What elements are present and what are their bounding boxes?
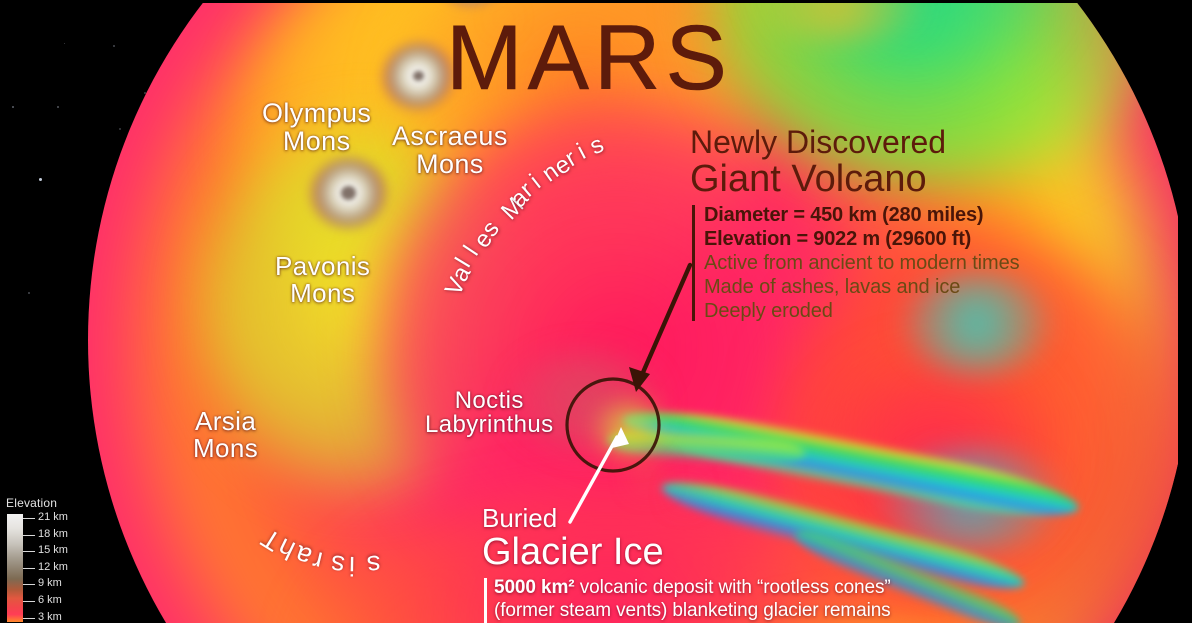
legend-body: 21 km18 km15 km12 km9 km6 km3 km xyxy=(2,514,94,623)
label-noctis-labyrinthus: Noctis Labyrinthus xyxy=(425,389,553,438)
volcano-fact-2: Made of ashes, lavas and ice xyxy=(704,275,1082,299)
label-line: Labyrinthus xyxy=(425,413,553,437)
star xyxy=(39,178,42,181)
legend-tick-mark xyxy=(23,535,35,536)
star xyxy=(12,106,14,108)
label-line: Arsia xyxy=(193,408,258,435)
glacier-detail-1: 5000 km² volcanic deposit with “rootless… xyxy=(494,576,1042,599)
legend-tick-label: 21 km xyxy=(38,511,68,523)
legend-title: Elevation xyxy=(6,496,94,510)
legend-tick-label: 15 km xyxy=(38,544,68,556)
label-olympus-mons: Olympus Mons xyxy=(262,100,371,155)
legend-tick-mark xyxy=(23,618,35,619)
volcano-heading-1: Newly Discovered xyxy=(690,126,1082,158)
label-line: Mons xyxy=(392,151,508,179)
legend-tick-label: 18 km xyxy=(38,528,68,540)
glacier-details: 5000 km² volcanic deposit with “rootless… xyxy=(482,576,1042,622)
page-title: MARS xyxy=(446,12,732,104)
label-line: Mons xyxy=(193,435,258,462)
glacier-heading-2: Glacier Ice xyxy=(482,533,1042,573)
legend-tick-mark xyxy=(23,551,35,552)
label-ascraeus-mons: Ascraeus Mons xyxy=(392,123,508,178)
label-pavonis-mons: Pavonis Mons xyxy=(275,253,370,306)
glacier-detail-2: (former steam vents) blanketing glacier … xyxy=(494,599,1042,622)
frame-edge-top xyxy=(0,0,1192,3)
legend-tick-label: 12 km xyxy=(38,561,68,573)
label-line: Noctis xyxy=(425,389,553,413)
volcano-fact-3: Deeply eroded xyxy=(704,299,1082,323)
label-line: Olympus xyxy=(262,100,371,128)
frame-edge-right xyxy=(1178,0,1192,623)
legend-tick-label: 3 km xyxy=(38,611,62,623)
legend-tick-label: 6 km xyxy=(38,594,62,606)
elevation-legend: Elevation 21 km18 km15 km12 km9 km6 km3 … xyxy=(2,496,94,623)
glacier-annotation: Buried Glacier Ice 5000 km² volcanic dep… xyxy=(482,505,1042,622)
star xyxy=(64,43,65,44)
star xyxy=(57,106,59,108)
volcano-accent-bar xyxy=(692,205,695,321)
volcano-heading-2: Giant Volcano xyxy=(690,160,1082,198)
legend-tick-mark xyxy=(23,568,35,569)
volcano-fact-1: Active from ancient to modern times xyxy=(704,251,1082,275)
label-char: i xyxy=(349,550,356,581)
label-line: Pavonis xyxy=(275,253,370,280)
mars-map-screenshot: MARS Olympus Mons Ascraeus Mons Pavonis … xyxy=(0,0,1192,623)
legend-color-ramp xyxy=(7,514,23,622)
legend-tick-label: 9 km xyxy=(38,577,62,589)
glacier-detail-strong: 5000 km² xyxy=(494,577,575,598)
label-line: Mons xyxy=(262,128,371,156)
label-line: Mons xyxy=(275,280,370,307)
label-arsia-mons: Arsia Mons xyxy=(193,408,258,461)
glacier-detail-rest: volcanic deposit with “rootless cones” xyxy=(575,577,891,598)
label-line: Ascraeus xyxy=(392,123,508,151)
legend-tick-mark xyxy=(23,601,35,602)
star xyxy=(28,292,30,294)
volcano-annotation: Newly Discovered Giant Volcano Diameter … xyxy=(690,126,1082,323)
volcano-diameter: Diameter = 450 km (280 miles) xyxy=(704,204,1082,228)
glacier-accent-bar xyxy=(484,578,487,623)
volcano-facts: Diameter = 450 km (280 miles) Elevation … xyxy=(690,204,1082,323)
legend-tick-mark xyxy=(23,584,35,585)
legend-tick-mark xyxy=(23,518,35,519)
glacier-heading-1: Buried xyxy=(482,505,1042,531)
volcano-elevation: Elevation = 9022 m (29600 ft) xyxy=(704,228,1082,252)
